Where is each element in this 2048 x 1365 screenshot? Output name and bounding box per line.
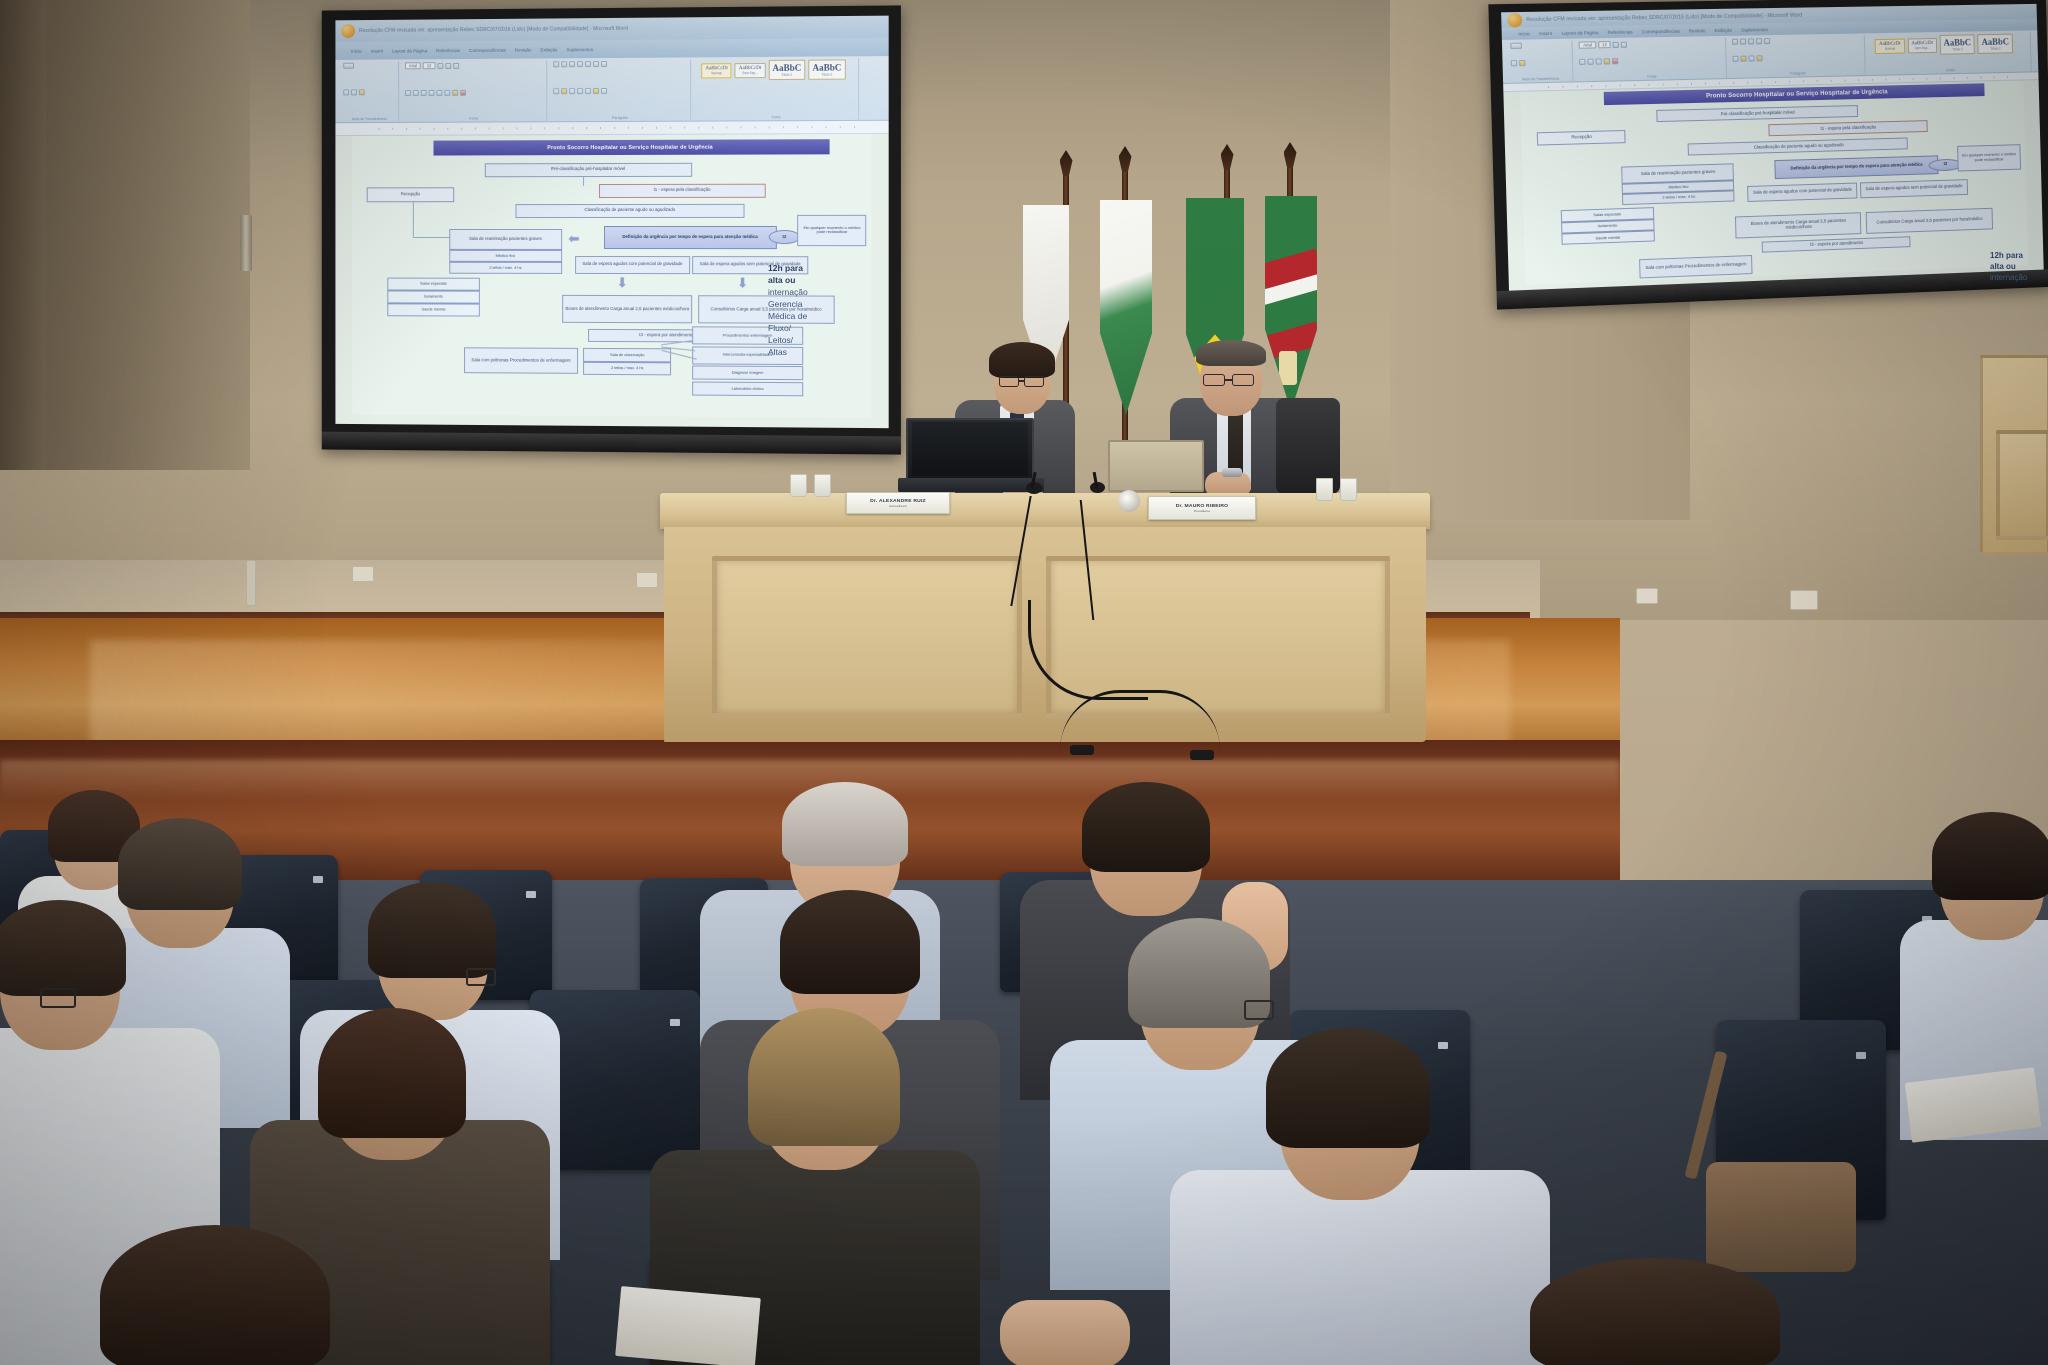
- speaker-left-glasses: [999, 376, 1019, 387]
- flowchart-side-note: 12h para alta ou internação Gerencia Méd…: [768, 262, 826, 359]
- handbag: [1706, 1162, 1856, 1272]
- bullets-icon[interactable]: [553, 62, 559, 68]
- nameplate-left-role: Conselheiro: [889, 504, 907, 508]
- audience-hair: [368, 882, 496, 978]
- flowchart-box-boxes-atendimento: Boxes de atendimento Carga anual 2,5 pac…: [1735, 212, 1861, 239]
- tab-referencias[interactable]: Referências: [1608, 29, 1633, 35]
- style-preview: AaBbC: [1982, 37, 2010, 47]
- flowchart-box-isolamento: Isolamento: [387, 290, 479, 303]
- water-glass: [814, 474, 831, 497]
- ribbon-group-styles: AaBbCcDt Normal AaBbCcDt Sem Esp... AaBb…: [1868, 32, 2032, 74]
- flowchart-box-recepcao: Recepção: [1537, 130, 1626, 146]
- show-marks-icon[interactable]: [601, 61, 607, 67]
- style-name: Título 2: [1982, 47, 2009, 51]
- wall-corner: [0, 0, 46, 470]
- flowchart-box-saude-mental: Saúde mental: [387, 303, 479, 316]
- water-glass: [1340, 478, 1357, 501]
- numbering-icon[interactable]: [1740, 39, 1746, 45]
- side-note-line: 12h para: [768, 262, 826, 274]
- increase-indent-icon[interactable]: [585, 61, 591, 67]
- audience-glasses: [1244, 1000, 1274, 1020]
- tab-inicio[interactable]: Início: [1518, 31, 1530, 36]
- side-note-line: internação: [768, 286, 826, 298]
- ribbon-group-label: Estilo: [697, 114, 855, 119]
- cut-icon[interactable]: [343, 90, 349, 96]
- word-ribbon: Área de Transferência Arial 12: [335, 56, 888, 122]
- flowchart-box-t1: t1 - espera pela classificação: [1768, 120, 1927, 136]
- flowchart-box-diagnose: Diagnose imagem: [692, 366, 802, 381]
- ribbon-group-paragraph: Parágrafo: [550, 60, 691, 121]
- side-note-line: Médica de: [768, 310, 826, 322]
- water-glass: [1316, 478, 1333, 501]
- show-marks-icon[interactable]: [1764, 38, 1770, 44]
- flowchart-box-espera-sem-potencial: Sala de espera agudos sem potencial de g…: [1860, 179, 1968, 198]
- font-size-box[interactable]: 12: [1598, 41, 1611, 48]
- style-titulo-1[interactable]: AaBbC Título 1: [768, 60, 805, 80]
- flowchart-box-medico-fixo: Médico fixo: [449, 250, 562, 262]
- tab-inserir[interactable]: Inserir: [1539, 30, 1552, 35]
- cable-connector: [1070, 745, 1094, 755]
- flowchart-side-note-right: 12h para alta ou internação: [1990, 250, 2040, 284]
- borders-icon[interactable]: [601, 88, 607, 94]
- flowchart-banner: Pronto Socorro Hospitalar ou Serviço Hos…: [433, 140, 829, 156]
- word-title-text: Resolução CFM revisada ver. apresentação…: [359, 26, 628, 34]
- audience-hair: [1530, 1258, 1780, 1365]
- style-name: Sem Esp...: [739, 71, 761, 75]
- audience-hand: [1000, 1300, 1130, 1365]
- nameplate-right: Dr. MAURO RIBEIRO Presidente: [1148, 496, 1256, 520]
- speaker-right-glasses-bridge: [1225, 379, 1232, 381]
- flowchart-box-salas-especiais: Salas especiais: [387, 278, 479, 291]
- shrink-font-icon[interactable]: [1621, 41, 1627, 47]
- word-application-right: Resolução CFM revisada ver. apresentação…: [1501, 4, 2044, 293]
- font-color-icon[interactable]: [1612, 58, 1618, 64]
- ribbon-group-label: Parágrafo: [553, 115, 687, 120]
- style-titulo-1[interactable]: AaBbC Título 1: [1940, 34, 1976, 54]
- underline-icon[interactable]: [421, 90, 427, 96]
- speaker-right-hair: [1196, 340, 1266, 366]
- audience-hair: [118, 818, 242, 910]
- flowchart-box-definicao: Definição da urgência por tempo de esper…: [1774, 155, 1938, 179]
- flowchart-box-sala-observacao: Sala de observação: [583, 348, 672, 363]
- speaker-right-glasses: [1232, 374, 1254, 386]
- word-document-page: Pronto Socorro Hospitalar ou Serviço Hos…: [1520, 81, 2028, 285]
- style-sem-espacamento[interactable]: AaBbCcDt Sem Esp...: [1907, 38, 1937, 53]
- sort-icon[interactable]: [593, 61, 599, 67]
- audience-glasses: [466, 968, 496, 986]
- table-light-puck: [1118, 490, 1140, 512]
- style-titulo-2[interactable]: AaBbC Título 2: [808, 60, 845, 80]
- flowchart-box-boxes-atendimento: Boxes de atendimento Carga anual 2,5 pac…: [562, 295, 692, 324]
- format-painter-icon[interactable]: [359, 90, 365, 96]
- tab-exibicao[interactable]: Exibição: [1715, 27, 1733, 32]
- paste-icon[interactable]: [343, 63, 354, 69]
- projection-screen-left: Resolução CFM revisada ver. apresentação…: [322, 5, 901, 454]
- flowchart-box-definicao: Definição da urgência por tempo de esper…: [604, 226, 777, 249]
- grow-font-icon[interactable]: [1613, 41, 1619, 47]
- tab-layout[interactable]: Layout da Página: [1562, 30, 1599, 36]
- flowchart-box-laboratorio: Laboratório clínico: [692, 381, 802, 396]
- nameplate-left-name: Dr. ALEXANDRE RUIZ: [870, 498, 926, 503]
- word-application-left: Resolução CFM revisada ver. apresentação…: [335, 16, 888, 429]
- flowchart-box-consultorios: Consultórios Carga anual 3,5 pacientes p…: [1866, 207, 1994, 234]
- paper-sheet: [615, 1286, 761, 1365]
- word-title-text: Resolução CFM revisada ver. apresentação…: [1526, 12, 1802, 23]
- style-name: Título 2: [812, 73, 841, 77]
- clear-format-icon[interactable]: [453, 63, 459, 69]
- tab-suplementos[interactable]: Suplementos: [1741, 27, 1768, 32]
- shading-icon[interactable]: [1757, 55, 1763, 61]
- ribbon-group-styles: AaBbCcDt Normal AaBbCcDt Sem Esp... AaBb…: [694, 59, 859, 121]
- font-size-box[interactable]: 12: [423, 63, 435, 70]
- flowchart-arrow-down-icon: ⬇: [617, 276, 628, 289]
- flowchart-box-reclassificar: Em qualquer momento o médico pode reclas…: [1957, 144, 2021, 172]
- style-name: Normal: [1879, 46, 1901, 50]
- audience-hair: [0, 900, 126, 996]
- wall-outlet: [1636, 588, 1658, 604]
- multilevel-list-icon[interactable]: [1748, 39, 1754, 45]
- wall-conduit: [246, 560, 256, 606]
- style-name: Título 1: [1944, 47, 1972, 51]
- audience-glasses: [40, 988, 76, 1008]
- tab-referencias[interactable]: Referências: [436, 48, 460, 53]
- laptop-right-screen[interactable]: [1108, 440, 1204, 492]
- speaker-left-glasses: [1024, 376, 1044, 387]
- audience-hair: [782, 782, 908, 866]
- cable-connector: [1190, 750, 1214, 760]
- audience-hair: [318, 1008, 466, 1138]
- style-preview: AaBbC: [772, 63, 801, 73]
- flowchart-arrow-left-icon: ⬅: [568, 232, 579, 245]
- style-preview: AaBbC: [812, 63, 841, 73]
- style-name: Título 1: [772, 73, 801, 77]
- side-cabinet-panel: [1996, 430, 2048, 540]
- flowchart-box-poltronas: Sala com poltronas Procedimentos de enfe…: [1639, 255, 1752, 278]
- speaker-right-glasses: [1203, 374, 1225, 386]
- line-spacing-icon[interactable]: [585, 89, 591, 95]
- justify-icon[interactable]: [577, 89, 583, 95]
- decrease-indent-icon[interactable]: [577, 62, 583, 68]
- flowchart-arrow-down-icon: ⬇: [737, 276, 748, 289]
- audience-hair: [1082, 782, 1210, 872]
- ribbon-group-clipboard: Área de Transferência: [340, 62, 399, 122]
- flowchart-box-classificacao: Classificação de paciente agudo ou agudi…: [1688, 138, 1909, 156]
- text-highlight-icon[interactable]: [1604, 59, 1610, 65]
- audience-hair: [1932, 812, 2048, 900]
- flowchart-box-poltronas: Sala com poltronas Procedimentos de enfe…: [464, 348, 578, 374]
- projection-surface-left: Resolução CFM revisada ver. apresentação…: [335, 16, 888, 429]
- head-table-panel-left: [712, 556, 1022, 718]
- water-glass: [790, 474, 807, 497]
- flowchart-box-reanimacao: Sala de reanimação pacientes graves: [449, 229, 562, 250]
- flowchart-box-leitos: 2 leitos / máx. 4 hs: [449, 262, 562, 274]
- tab-revisao[interactable]: Revisão: [1689, 28, 1706, 33]
- ribbon-group-label: Fonte: [405, 116, 543, 121]
- office-button-icon[interactable]: [341, 24, 355, 38]
- auditorium-scene: Resolução CFM revisada ver. apresentação…: [0, 0, 2048, 1365]
- audience-hair: [100, 1225, 330, 1365]
- align-left-icon[interactable]: [1733, 56, 1739, 62]
- side-note-line: Gerencia: [768, 298, 826, 310]
- style-normal[interactable]: AaBbCcDt Normal: [1875, 38, 1905, 53]
- audience-hair: [748, 1008, 900, 1146]
- shading-icon[interactable]: [593, 89, 599, 95]
- align-right-icon[interactable]: [1749, 55, 1755, 61]
- flowchart-box-recepcao: Recepção: [367, 187, 454, 202]
- subscript-icon[interactable]: [436, 90, 442, 96]
- flowchart-box-obs-leitos: 2 leitos / máx. 4 hs: [583, 362, 672, 375]
- superscript-icon[interactable]: [444, 90, 450, 96]
- wall-outlet: [352, 566, 374, 582]
- style-normal[interactable]: AaBbCcDt Normal: [701, 63, 731, 78]
- audience-hair: [1266, 1028, 1430, 1148]
- increase-indent-icon[interactable]: [1756, 38, 1762, 44]
- font-name-box[interactable]: Arial: [1579, 41, 1596, 48]
- flowchart-box-espera-com-potencial: Sala de espera agudos com potencial de g…: [1747, 182, 1858, 202]
- projection-surface-right: Resolução CFM revisada ver. apresentação…: [1501, 4, 2044, 293]
- grow-font-icon[interactable]: [437, 63, 443, 69]
- speaker-left-glasses-bridge: [1019, 380, 1024, 382]
- multilevel-list-icon[interactable]: [569, 62, 575, 68]
- ribbon-group-label: Área de Transferência: [343, 117, 395, 121]
- tab-correspondencias[interactable]: Correspondências: [469, 48, 506, 53]
- tab-layout[interactable]: Layout da Página: [392, 48, 427, 53]
- strikethrough-icon[interactable]: [428, 90, 434, 96]
- wall-outlet: [1790, 590, 1818, 610]
- flowchart-box-t1: t1 - espera pela classificação: [599, 184, 766, 198]
- head-table-top: [660, 493, 1430, 529]
- flowchart-box-leitos: 2 leitos / máx. 4 hs: [1622, 191, 1735, 205]
- bold-icon[interactable]: [1580, 59, 1586, 65]
- shrink-font-icon[interactable]: [445, 63, 451, 69]
- flowchart-diagram: Pronto Socorro Hospitalar ou Serviço Hos…: [1520, 81, 2028, 285]
- align-center-icon[interactable]: [561, 89, 567, 95]
- flowchart-box-t2: t2: [769, 230, 801, 244]
- laptop-left-display: [912, 422, 1028, 476]
- align-center-icon[interactable]: [1741, 55, 1747, 61]
- style-name: Normal: [705, 71, 727, 75]
- office-button-icon[interactable]: [1507, 13, 1522, 28]
- font-color-icon[interactable]: [460, 90, 466, 96]
- bold-icon[interactable]: [405, 90, 411, 96]
- bullets-icon[interactable]: [1732, 39, 1738, 45]
- side-note-line: alta ou: [1990, 261, 2040, 272]
- format-painter-icon[interactable]: [1519, 60, 1525, 66]
- ribbon-group-paragraph: Parágrafo: [1729, 35, 1866, 77]
- side-note-line: Leitos/: [768, 334, 826, 346]
- tab-suplementos[interactable]: Suplementos: [566, 47, 593, 52]
- side-note-line: Altas: [768, 346, 826, 358]
- flowchart-box-pre: Pré-classificação pré-hospitalar móvel: [485, 163, 693, 178]
- ribbon-group-label: Área de Transferência: [1511, 76, 1569, 81]
- italic-icon[interactable]: [413, 90, 419, 96]
- flowchart-box-classificacao: Classificação de paciente agudo ou agudi…: [516, 203, 745, 217]
- speaker-right-watch: [1222, 468, 1242, 477]
- underline-icon[interactable]: [1596, 59, 1602, 65]
- copy-icon[interactable]: [351, 90, 357, 96]
- flowchart-connector: [583, 177, 584, 186]
- side-note-line: 12h para: [1990, 250, 2040, 261]
- style-preview: AaBbC: [1943, 37, 1971, 47]
- flag-coat-of-arms: [1279, 351, 1298, 385]
- speaker-left-hair: [989, 342, 1055, 378]
- ribbon-group-font: Arial 12: [402, 61, 547, 122]
- style-sem-espacamento[interactable]: AaBbCcDt Sem Esp...: [735, 63, 766, 78]
- side-note-line: Fluxo/: [768, 322, 826, 334]
- align-right-icon[interactable]: [569, 89, 575, 95]
- flowchart-box-t3: t3 - espera por atendimento: [1761, 236, 1911, 253]
- text-highlight-icon[interactable]: [452, 90, 458, 96]
- ribbon-group-font: Arial 12 Fonte: [1576, 38, 1727, 81]
- numbering-icon[interactable]: [561, 62, 567, 68]
- style-titulo-2[interactable]: AaBbC Título 2: [1978, 34, 2013, 54]
- laptop-left-base[interactable]: [898, 478, 1044, 492]
- tab-inicio[interactable]: Início: [351, 49, 362, 54]
- tab-correspondencias[interactable]: Correspondências: [1642, 28, 1680, 34]
- nameplate-right-name: Dr. MAURO RIBEIRO: [1176, 503, 1229, 508]
- audience-hair: [780, 890, 920, 994]
- cut-icon[interactable]: [1511, 60, 1517, 66]
- side-note-line: internação: [1990, 272, 2040, 283]
- flowchart-box-pre: Pré-classificação pré-hospitalar móvel: [1656, 105, 1858, 122]
- tab-inserir[interactable]: Inserir: [371, 49, 384, 54]
- nameplate-right-role: Presidente: [1194, 509, 1210, 513]
- italic-icon[interactable]: [1588, 59, 1594, 65]
- projection-screen-right: Resolução CFM revisada ver. apresentação…: [1488, 0, 2048, 310]
- paste-icon[interactable]: [1510, 43, 1522, 49]
- tab-revisao[interactable]: Revisão: [515, 47, 531, 52]
- wall-pipe: [240, 215, 252, 271]
- style-name: Sem Esp...: [1912, 46, 1934, 50]
- font-name-box[interactable]: Arial: [405, 63, 421, 70]
- wall-outlet: [636, 572, 658, 588]
- align-left-icon[interactable]: [553, 89, 559, 95]
- flowchart-connector: [413, 202, 414, 238]
- flowchart-box-reclassificar: Em qualquer momento o médico pode reclas…: [798, 215, 867, 246]
- tab-exibicao[interactable]: Exibição: [540, 47, 557, 52]
- ribbon-group-clipboard: Área de Transferência: [1507, 41, 1574, 83]
- flowchart-box-saude-mental: Saúde mental: [1561, 230, 1655, 245]
- side-note-line: alta ou: [768, 274, 826, 286]
- flowchart-box-espera-com-potencial: Sala de espera agudos com potencial de g…: [575, 256, 690, 275]
- nameplate-left: Dr. ALEXANDRE RUIZ Conselheiro: [846, 492, 950, 514]
